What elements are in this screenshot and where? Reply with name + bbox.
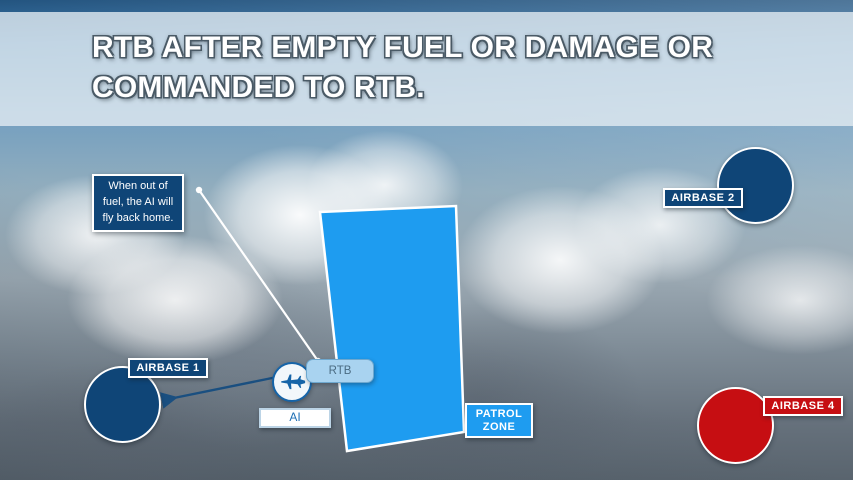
leader-line-endpoint [196,187,202,193]
slide-canvas: RTB AFTER EMPTY FUEL OR DAMAGE OR COMMAN… [0,0,853,480]
ai-unit-label: AI [259,408,331,428]
patrol-zone-label-line1: PATROL [476,408,523,421]
patrol-zone-label: PATROL ZONE [465,403,533,438]
rtb-status-chip[interactable]: RTB [306,359,374,383]
callout-box: When out of fuel, the AI will fly back h… [92,174,184,232]
fighter-jet-icon [277,367,307,397]
callout-leader-line [199,190,318,361]
airbase-2-label: AIRBASE 2 [663,188,743,208]
airbase-2-marker[interactable] [717,147,794,224]
rtb-route-arrow [164,377,277,400]
airbase-1-label: AIRBASE 1 [128,358,208,378]
patrol-zone-label-line2: ZONE [483,421,516,434]
jet-silhouette [281,375,305,390]
airbase-4-label: AIRBASE 4 [763,396,843,416]
